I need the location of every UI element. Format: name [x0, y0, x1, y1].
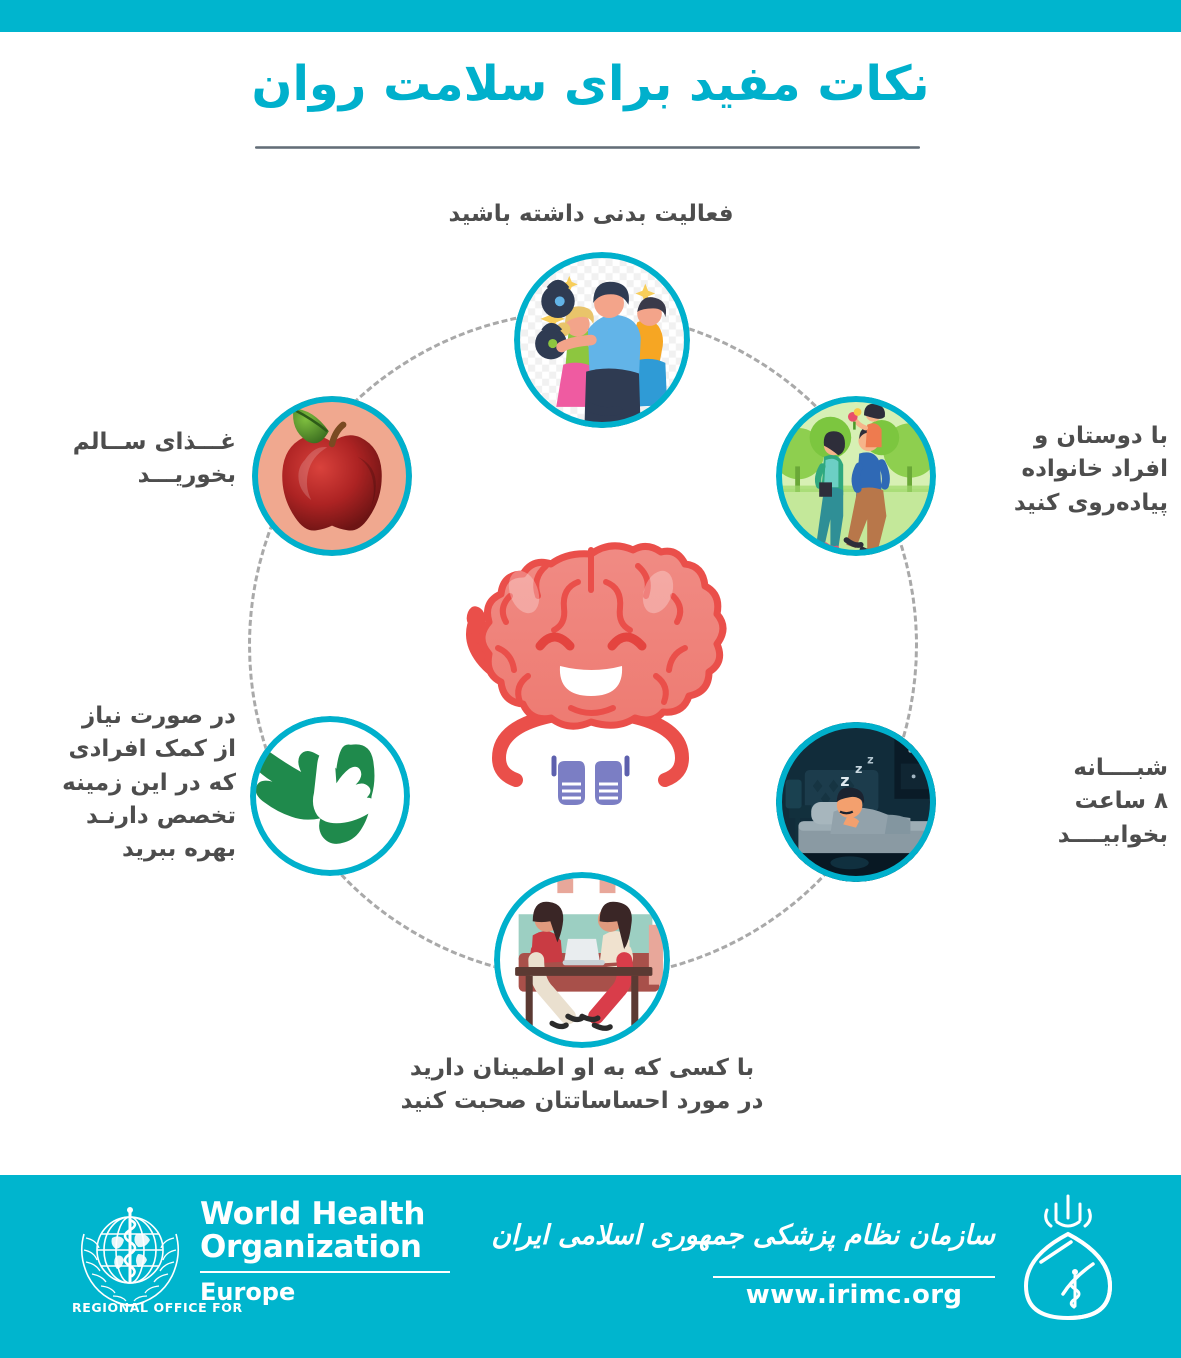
who-line-1: World Health — [200, 1198, 450, 1231]
family-walking-icon — [776, 396, 936, 556]
sleeping-person-icon: z z z — [776, 722, 936, 882]
irimc-emblem-icon — [1007, 1192, 1129, 1322]
tip-icon-help[interactable] — [250, 716, 410, 876]
tip-label-sleep: شبــــانه۸ ساعتبخوابیــــد — [944, 752, 1168, 852]
tip-icon-exercise[interactable] — [514, 252, 690, 428]
infographic-page: نکات مفید برای سلامت روان — [0, 0, 1181, 1358]
red-apple-icon — [252, 396, 412, 556]
who-emblem-icon — [72, 1198, 188, 1314]
who-line-2: Organization — [200, 1231, 450, 1264]
tip-icon-walk[interactable] — [776, 396, 936, 556]
tip-label-talk: با کسی که به او اطمینان داریددر مورد احس… — [332, 1052, 832, 1119]
tip-label-exercise: فعالیت بدنی داشته باشید — [341, 198, 841, 231]
smiling-brain-character-icon — [428, 536, 753, 814]
svg-text:z: z — [840, 771, 849, 790]
tip-label-food: غـــذای ســالمبخوریـــد — [14, 426, 236, 493]
title-divider — [255, 146, 920, 149]
who-wordmark: World Health Organization Europe — [200, 1198, 450, 1306]
who-regional-office-text: REGIONAL OFFICE FOR — [72, 1300, 243, 1315]
irimc-divider — [713, 1276, 995, 1278]
who-divider — [200, 1271, 450, 1273]
tip-icon-sleep[interactable]: z z z — [776, 722, 936, 882]
irimc-url[interactable]: www.irimc.org — [713, 1280, 995, 1310]
two-women-talking-icon — [494, 872, 670, 1048]
tip-icon-talk[interactable] — [494, 872, 670, 1048]
tip-label-walk: با دوستان وافراد خانوادهپیاده‌روی کنید — [944, 420, 1168, 520]
tip-label-help: در صورت نیازاز کمک افرادیکه در این زمینه… — [14, 700, 236, 867]
who-logo: World Health Organization Europe REGIONA… — [72, 1196, 472, 1328]
top-accent-bar — [0, 0, 1181, 32]
tip-icon-food[interactable] — [252, 396, 412, 556]
svg-text:z: z — [867, 754, 874, 767]
irimc-logo: سازمان نظام پزشکی جمهوری اسلامی ایران ww… — [659, 1192, 1129, 1332]
helping-hands-icon — [250, 716, 410, 876]
page-title: نکات مفید برای سلامت روان — [0, 52, 1181, 117]
svg-text:z: z — [855, 762, 862, 777]
exercise-group-icon — [514, 252, 690, 428]
irimc-name-text: سازمان نظام پزشکی جمهوری اسلامی ایران — [665, 1220, 995, 1251]
